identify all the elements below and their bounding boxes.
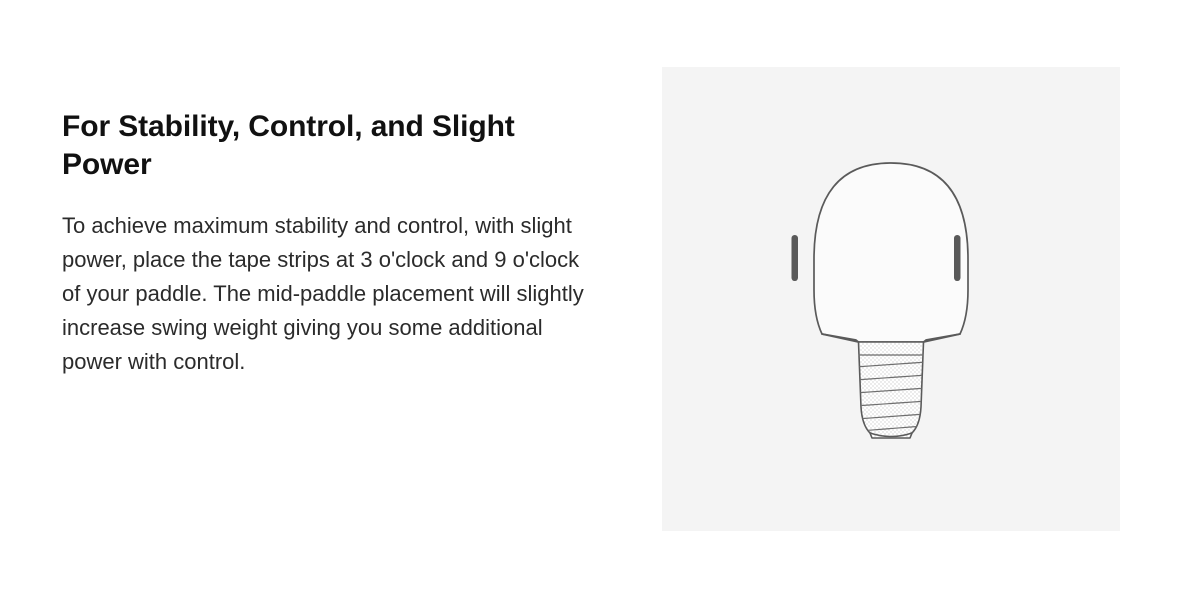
tape-strip-9-oclock bbox=[792, 235, 799, 281]
paddle-face-outline bbox=[814, 163, 968, 342]
text-column: For Stability, Control, and Slight Power… bbox=[62, 108, 592, 379]
tape-strip-3-oclock bbox=[954, 235, 961, 281]
slide-root: For Stability, Control, and Slight Power… bbox=[0, 0, 1200, 600]
body-paragraph: To achieve maximum stability and control… bbox=[62, 209, 590, 379]
page-title: For Stability, Control, and Slight Power bbox=[62, 108, 577, 183]
illustration-panel bbox=[662, 67, 1120, 531]
pickleball-paddle-illustration bbox=[662, 67, 1120, 531]
